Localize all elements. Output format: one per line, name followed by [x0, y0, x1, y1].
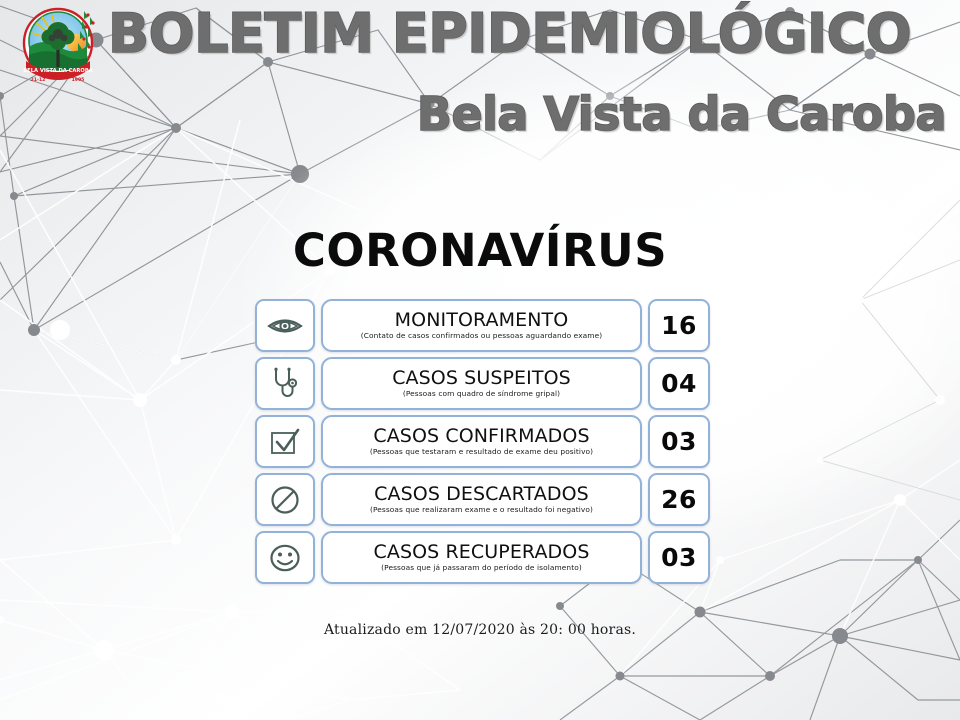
stat-label-container: CASOS CONFIRMADOS (Pessoas que testaram … — [321, 415, 642, 468]
smiley-face-icon — [269, 543, 301, 573]
stat-subtitle: (Pessoas que realizaram exame e o result… — [370, 505, 593, 515]
stat-value: 26 — [661, 485, 697, 514]
eye-icon — [267, 314, 303, 338]
stat-value: 04 — [661, 369, 697, 398]
stat-title: CASOS DESCARTADOS — [374, 483, 589, 505]
stat-value: 03 — [661, 543, 697, 572]
stethoscope-icon — [270, 367, 300, 401]
stat-label-container: CASOS SUSPEITOS (Pessoas com quadro de s… — [321, 357, 642, 410]
last-updated-text: Atualizado em 12/07/2020 às 20: 00 horas… — [0, 622, 960, 638]
crest-motto-text: BELA VISTA DA CAROBA — [23, 68, 93, 74]
table-row: CASOS SUSPEITOS (Pessoas com quadro de s… — [255, 357, 710, 410]
stat-icon-container — [255, 415, 315, 468]
stat-title: CASOS SUSPEITOS — [392, 367, 571, 389]
table-row: MONITORAMENTO (Contato de casos confirma… — [255, 299, 710, 352]
crest-date-left: 21-12 — [31, 77, 46, 83]
stat-icon-container — [255, 357, 315, 410]
crest-date-right: 1995 — [72, 77, 85, 83]
bulletin-title-municipality: Bela Vista da Caroba — [417, 88, 946, 140]
checkbox-check-icon — [269, 427, 301, 457]
stat-label-container: MONITORAMENTO (Contato de casos confirma… — [321, 299, 642, 352]
stat-icon-container — [255, 299, 315, 352]
stat-title: MONITORAMENTO — [395, 309, 569, 331]
stat-value-container: 03 — [648, 415, 710, 468]
stat-subtitle: (Pessoas com quadro de síndrome gripal) — [403, 389, 560, 399]
stat-title: CASOS CONFIRMADOS — [373, 425, 589, 447]
stat-icon-container — [255, 531, 315, 584]
stat-label-container: CASOS DESCARTADOS (Pessoas que realizara… — [321, 473, 642, 526]
table-row: CASOS CONFIRMADOS (Pessoas que testaram … — [255, 415, 710, 468]
stat-value: 16 — [661, 311, 697, 340]
stat-value-container: 04 — [648, 357, 710, 410]
stat-value: 03 — [661, 427, 697, 456]
stat-subtitle: (Pessoas que já passaram do período de i… — [381, 563, 582, 573]
stat-value-container: 26 — [648, 473, 710, 526]
bulletin-canvas: BELA VISTA DA CAROBA 21-12 1995 BOLETIM … — [0, 0, 960, 720]
stat-subtitle: (Pessoas que testaram e resultado de exa… — [370, 447, 593, 457]
prohibition-icon — [270, 485, 300, 515]
stat-value-container: 03 — [648, 531, 710, 584]
table-row: CASOS RECUPERADOS (Pessoas que já passar… — [255, 531, 710, 584]
stat-title: CASOS RECUPERADOS — [374, 541, 590, 563]
stat-value-container: 16 — [648, 299, 710, 352]
stat-subtitle: (Contato de casos confirmados ou pessoas… — [361, 331, 602, 341]
bulletin-title-primary: BOLETIM EPIDEMIOLÓGICO — [108, 4, 911, 64]
page-title: CORONAVÍRUS — [0, 224, 960, 277]
municipal-coat-of-arms-icon: BELA VISTA DA CAROBA 21-12 1995 — [18, 3, 102, 87]
covid-stats-table: MONITORAMENTO (Contato de casos confirma… — [255, 299, 710, 584]
stat-icon-container — [255, 473, 315, 526]
table-row: CASOS DESCARTADOS (Pessoas que realizara… — [255, 473, 710, 526]
bulletin-header: BELA VISTA DA CAROBA 21-12 1995 BOLETIM … — [0, 0, 960, 152]
stat-label-container: CASOS RECUPERADOS (Pessoas que já passar… — [321, 531, 642, 584]
